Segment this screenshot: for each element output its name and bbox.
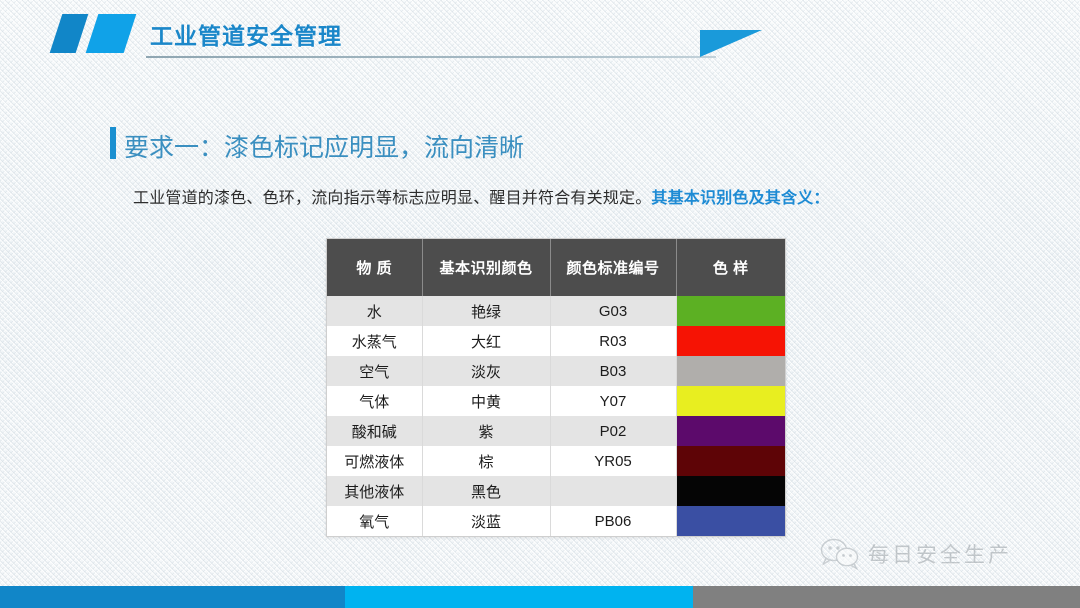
- cell-substance: 可燃液体: [327, 446, 422, 476]
- table-row: 氧气淡蓝PB06: [327, 506, 785, 536]
- cell-color-name: 艳绿: [422, 296, 550, 326]
- cell-color-sample: [676, 416, 785, 446]
- table-body: 水艳绿G03水蒸气大红R03空气淡灰B03气体中黄Y07酸和碱紫P02可燃液体棕…: [327, 296, 785, 536]
- cell-substance: 水蒸气: [327, 326, 422, 356]
- cell-color-name: 中黄: [422, 386, 550, 416]
- cell-color-name: 棕: [422, 446, 550, 476]
- cell-color-code: Y07: [550, 386, 676, 416]
- color-swatch: [677, 506, 786, 536]
- body-text-accent: 其基本识别色及其含义：: [651, 190, 829, 207]
- watermark: 每日安全生产: [820, 538, 1012, 570]
- cell-color-name: 大红: [422, 326, 550, 356]
- color-swatch: [677, 416, 786, 446]
- cell-color-sample: [676, 326, 785, 356]
- table-header-row: 物 质 基本识别颜色 颜色标准编号 色 样: [327, 239, 785, 296]
- cell-color-code: G03: [550, 296, 676, 326]
- table-row: 酸和碱紫P02: [327, 416, 785, 446]
- cell-color-code: [550, 476, 676, 506]
- slide-header: 工业管道安全管理: [0, 0, 1080, 72]
- color-swatch: [677, 476, 786, 506]
- body-paragraph: 工业管道的漆色、色环，流向指示等标志应明显、醒目并符合有关规定。其基本识别色及其…: [133, 184, 830, 208]
- column-header-color-name: 基本识别颜色: [422, 239, 550, 296]
- cell-substance: 气体: [327, 386, 422, 416]
- footer-bar-segment-2: [345, 586, 693, 608]
- cell-color-code: R03: [550, 326, 676, 356]
- cell-color-sample: [676, 356, 785, 386]
- footer-bar-segment-3: [693, 586, 1080, 608]
- cell-color-sample: [676, 476, 785, 506]
- double-slash-logo-icon: [50, 14, 89, 53]
- cell-substance: 其他液体: [327, 476, 422, 506]
- column-header-color-sample: 色 样: [676, 239, 785, 296]
- cell-color-code: PB06: [550, 506, 676, 536]
- section-accent-bar: [110, 127, 116, 159]
- cell-color-sample: [676, 446, 785, 476]
- table-row: 可燃液体棕YR05: [327, 446, 785, 476]
- table-row: 水艳绿G03: [327, 296, 785, 326]
- table-row: 水蒸气大红R03: [327, 326, 785, 356]
- cell-color-name: 淡灰: [422, 356, 550, 386]
- table-row: 气体中黄Y07: [327, 386, 785, 416]
- right-triangle-icon: [700, 30, 762, 57]
- column-header-color-code: 颜色标准编号: [550, 239, 676, 296]
- cell-color-code: B03: [550, 356, 676, 386]
- wechat-icon: [820, 538, 860, 570]
- cell-color-code: YR05: [550, 446, 676, 476]
- table-header: 物 质 基本识别颜色 颜色标准编号 色 样: [327, 239, 785, 296]
- color-swatch: [677, 386, 786, 416]
- color-identification-table: 物 质 基本识别颜色 颜色标准编号 色 样 水艳绿G03水蒸气大红R03空气淡灰…: [326, 238, 786, 537]
- table-row: 其他液体黑色: [327, 476, 785, 506]
- table-row: 空气淡灰B03: [327, 356, 785, 386]
- cell-substance: 氧气: [327, 506, 422, 536]
- cell-substance: 空气: [327, 356, 422, 386]
- cell-color-sample: [676, 296, 785, 326]
- header-divider: [146, 56, 716, 58]
- cell-color-name: 黑色: [422, 476, 550, 506]
- color-swatch: [677, 356, 786, 386]
- cell-color-code: P02: [550, 416, 676, 446]
- watermark-text: 每日安全生产: [868, 539, 1012, 569]
- section-heading: 要求一：漆色标记应明显，流向清晰: [124, 128, 524, 164]
- cell-substance: 水: [327, 296, 422, 326]
- cell-color-sample: [676, 506, 785, 536]
- cell-color-sample: [676, 386, 785, 416]
- cell-color-name: 淡蓝: [422, 506, 550, 536]
- cell-substance: 酸和碱: [327, 416, 422, 446]
- footer-bar-segment-1: [0, 586, 345, 608]
- color-swatch: [677, 326, 786, 356]
- page-title: 工业管道安全管理: [150, 17, 342, 51]
- column-header-substance: 物 质: [327, 239, 422, 296]
- color-swatch: [677, 296, 786, 326]
- color-swatch: [677, 446, 786, 476]
- cell-color-name: 紫: [422, 416, 550, 446]
- body-text-plain: 工业管道的漆色、色环，流向指示等标志应明显、醒目并符合有关规定。: [133, 190, 651, 207]
- slide-canvas: 工业管道安全管理 要求一：漆色标记应明显，流向清晰 工业管道的漆色、色环，流向指…: [0, 0, 1080, 608]
- double-slash-logo-icon-secondary: [86, 14, 137, 53]
